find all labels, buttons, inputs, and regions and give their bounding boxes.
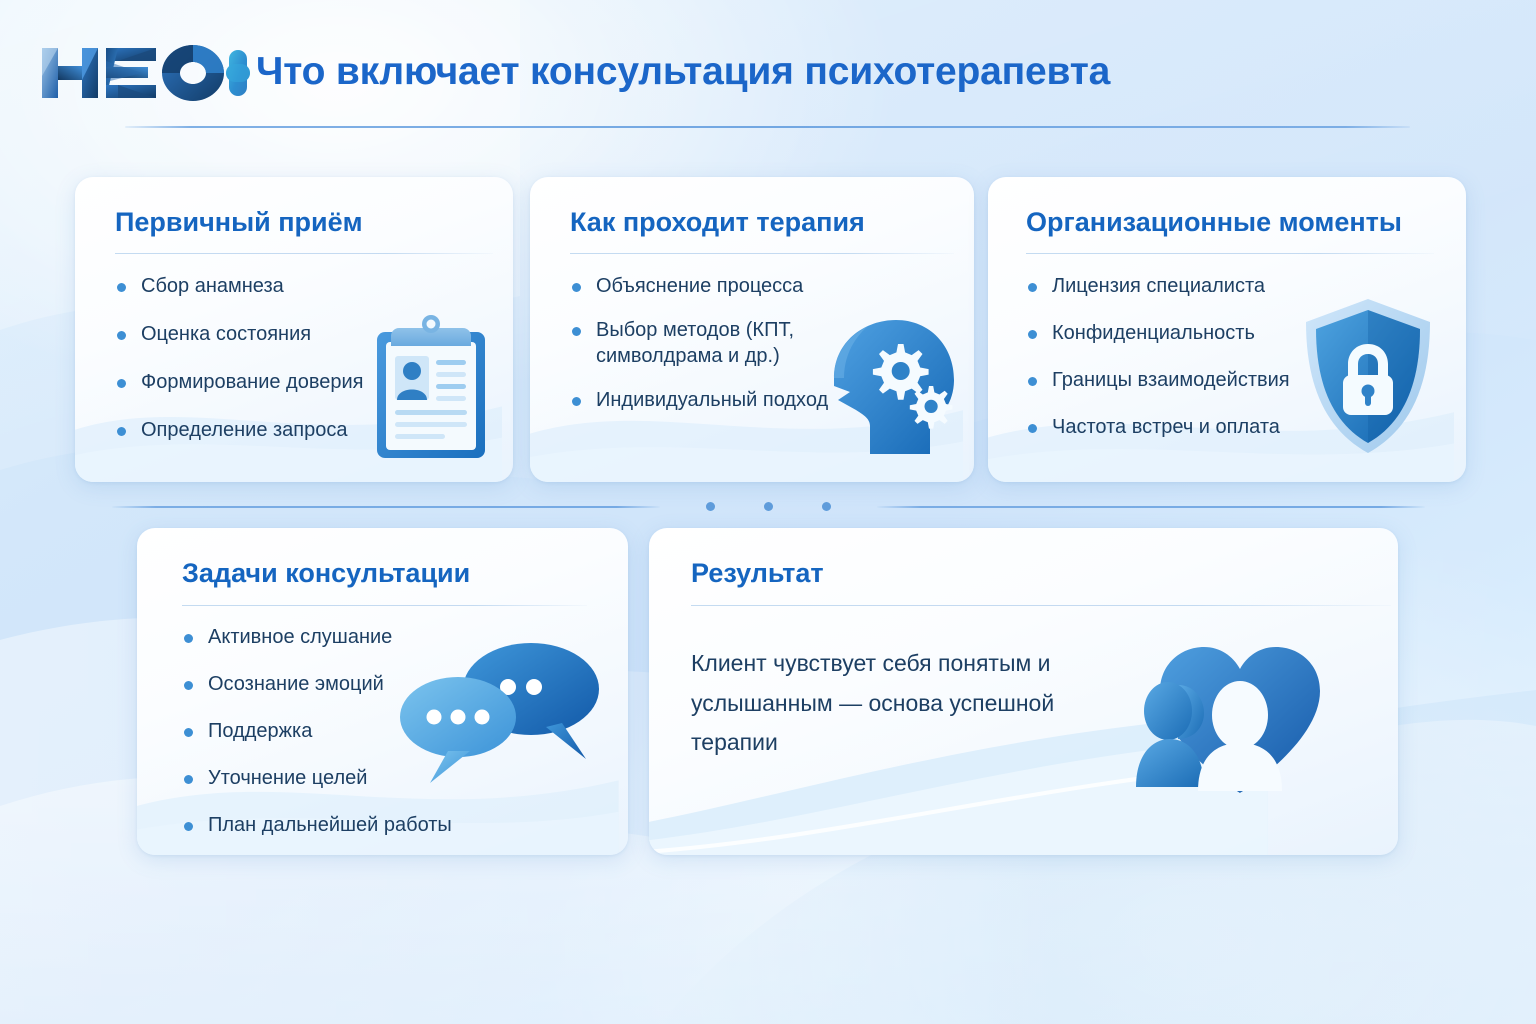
divider-line-left [112,506,660,508]
list-item: Конфиденциальность [1026,320,1326,346]
page-header: Что включает консультация психотерапевта [0,34,1536,134]
card-organizational[interactable]: Организационные моменты Лицензия специал… [988,177,1466,482]
card-title: Как проходит терапия [570,207,865,238]
card-title: Задачи консультации [182,558,470,589]
list-item: Осознание эмоций [182,671,512,697]
infographic-canvas: Что включает консультация психотерапевта… [0,0,1536,1024]
bullet-list: Объяснение процесса Выбор методов (КПТ, … [570,273,860,431]
card-title-divider [182,605,587,606]
person-left [1136,682,1204,787]
list-item: План дальнейшей работы [182,812,512,838]
card-consultation-tasks[interactable]: Задачи консультации Активное слушание Ос… [137,528,628,855]
list-item: Выбор методов (КПТ, символдрама и др.) [570,317,860,369]
logo-letter-e [106,48,156,98]
list-item: Оценка состояния [115,321,415,347]
card-therapy-process[interactable]: Как проходит терапия Объяснение процесса… [530,177,974,482]
list-item: Активное слушание [182,624,512,650]
card-primary-appointment[interactable]: Первичный приём Сбор анамнеза Оценка сос… [75,177,513,482]
logo-letter-o [162,45,224,101]
list-item: Сбор анамнеза [115,273,415,299]
header-divider [125,126,1410,128]
divider-dot [822,502,831,511]
list-item: Поддержка [182,718,512,744]
divider-line-right [877,506,1425,508]
divider-dot [706,502,715,511]
list-item: Уточнение целей [182,765,512,791]
section-divider [112,500,1425,514]
list-item: Границы взаимодействия [1026,367,1326,393]
bullet-list: Лицензия специалиста Конфиденциальность … [1026,273,1326,461]
list-item: Частота встреч и оплата [1026,414,1326,440]
heart-couple-icon [1090,615,1360,815]
result-body-text: Клиент чувствует себя понятым и услышанн… [691,644,1091,763]
neo-plus-logo[interactable] [38,42,250,104]
bullet-list: Сбор анамнеза Оценка состояния Формирова… [115,273,415,465]
card-title-divider [115,253,493,254]
list-item: Определение запроса [115,417,415,443]
list-item: Лицензия специалиста [1026,273,1326,299]
bullet-list: Активное слушание Осознание эмоций Подде… [182,624,512,855]
logo-letter-h [42,48,98,98]
logo-plus-icon [226,50,250,96]
list-item: Формирование доверия [115,369,415,395]
divider-dot [764,502,773,511]
card-title: Первичный приём [115,207,363,238]
person-right [1198,681,1282,791]
list-item: Объяснение процесса [570,273,860,299]
card-title-divider [1026,253,1434,254]
card-result[interactable]: Результат Клиент чувствует себя понятым … [649,528,1398,855]
card-title: Результат [691,558,824,589]
card-title: Организационные моменты [1026,207,1402,238]
card-title-divider [691,605,1391,606]
list-item: Индивидуальный подход [570,387,860,413]
page-title: Что включает консультация психотерапевта [256,50,1110,94]
card-title-divider [570,253,954,254]
